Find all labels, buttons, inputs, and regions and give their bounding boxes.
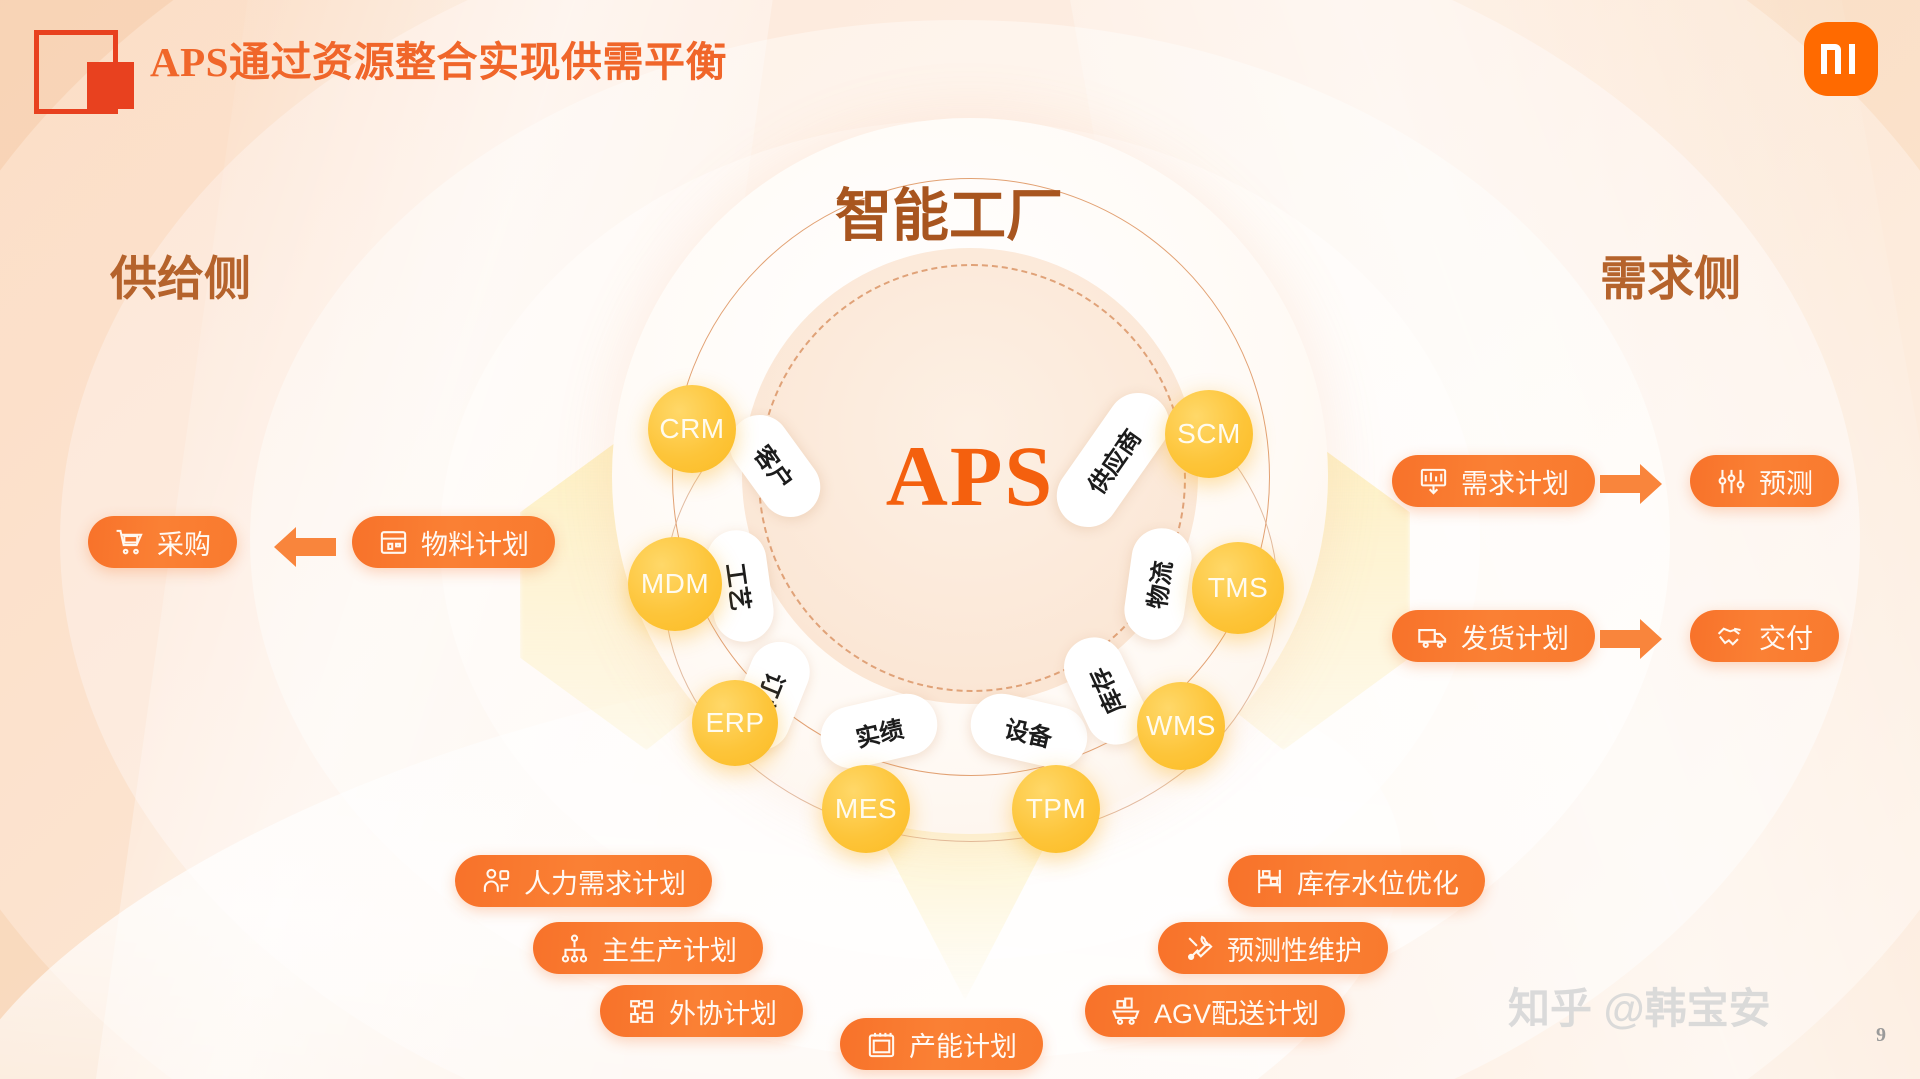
chip-purchasing[interactable]: 采购 xyxy=(88,516,237,568)
outsourcing-icon xyxy=(626,996,657,1027)
agv-cart-icon xyxy=(1111,996,1142,1027)
square-solid-icon xyxy=(87,62,134,109)
chip-label: 发货计划 xyxy=(1461,617,1569,656)
module-label: CRM xyxy=(659,413,724,445)
shopping-cart-icon xyxy=(114,527,145,558)
module-bubble-crm[interactable]: CRM xyxy=(648,385,736,473)
module-bubble-mdm[interactable]: MDM xyxy=(628,537,722,631)
chip-capacity-plan[interactable]: 产能计划 xyxy=(840,1018,1043,1070)
inner-pill-label: 工艺 xyxy=(719,560,760,612)
module-label: ERP xyxy=(705,707,764,739)
chip-label: 人力需求计划 xyxy=(524,862,686,901)
supply-side-label: 供给侧 xyxy=(110,240,251,309)
module-bubble-tms[interactable]: TMS xyxy=(1192,542,1284,634)
chip-label: 外协计划 xyxy=(669,992,777,1031)
chip-material-plan[interactable]: 物料计划 xyxy=(352,516,555,568)
factory-title: 智能工厂 xyxy=(835,170,1063,252)
module-label: TPM xyxy=(1026,793,1087,825)
inner-pill-label: 物流 xyxy=(1137,558,1178,610)
module-label: WMS xyxy=(1146,710,1216,742)
module-bubble-mes[interactable]: MES xyxy=(822,765,910,853)
handshake-icon xyxy=(1716,621,1747,652)
chip-master-production-plan[interactable]: 主生产计划 xyxy=(533,922,763,974)
chip-label: 产能计划 xyxy=(909,1025,1017,1064)
arrow-right-1 xyxy=(1600,462,1664,506)
module-label: SCM xyxy=(1177,418,1241,450)
chip-label: 预测 xyxy=(1759,462,1813,501)
people-plan-icon xyxy=(481,866,512,897)
chip-outsourcing-plan[interactable]: 外协计划 xyxy=(600,985,803,1037)
chip-label: 预测性维护 xyxy=(1227,929,1362,968)
chip-forecast[interactable]: 预测 xyxy=(1690,455,1839,507)
hierarchy-icon xyxy=(559,933,590,964)
chip-inventory-optimization[interactable]: 库存水位优化 xyxy=(1228,855,1485,907)
watermark: 知乎 @韩宝安 xyxy=(1508,975,1771,1036)
chip-demand-plan[interactable]: 需求计划 xyxy=(1392,455,1595,507)
chip-label: 主生产计划 xyxy=(602,929,737,968)
module-label: TMS xyxy=(1208,572,1269,604)
page-title: APS通过资源整合实现供需平衡 xyxy=(150,28,727,88)
inner-pill-label: 客户 xyxy=(747,436,804,495)
truck-icon xyxy=(1418,621,1449,652)
page-number: 9 xyxy=(1876,1024,1886,1047)
wrench-screwdriver-icon xyxy=(1184,933,1215,964)
warehouse-rack-icon xyxy=(1254,866,1285,897)
module-label: MDM xyxy=(641,568,709,600)
demand-side-label: 需求侧 xyxy=(1600,240,1741,309)
module-bubble-scm[interactable]: SCM xyxy=(1165,390,1253,478)
chip-shipping-plan[interactable]: 发货计划 xyxy=(1392,610,1595,662)
inner-pill-label: 实绩 xyxy=(852,709,907,754)
module-bubble-wms[interactable]: WMS xyxy=(1137,682,1225,770)
module-bubble-tpm[interactable]: TPM xyxy=(1012,765,1100,853)
chip-delivery[interactable]: 交付 xyxy=(1690,610,1839,662)
arrow-right-2 xyxy=(1600,617,1664,661)
module-bubble-erp[interactable]: ERP xyxy=(692,680,778,766)
slide-canvas: APS通过资源整合实现供需平衡 供给侧 需求侧 APS 智能工厂 客户 工艺 订… xyxy=(0,0,1920,1079)
mi-logo xyxy=(1804,22,1878,96)
chip-label: 交付 xyxy=(1759,617,1813,656)
slide-header: APS通过资源整合实现供需平衡 xyxy=(0,0,1920,115)
calendar-grid-icon xyxy=(378,527,409,558)
arrow-left xyxy=(272,525,336,569)
chip-predictive-maintenance[interactable]: 预测性维护 xyxy=(1158,922,1388,974)
sliders-icon xyxy=(1716,466,1747,497)
chip-label: 物料计划 xyxy=(421,523,529,562)
chip-label: 采购 xyxy=(157,523,211,562)
chip-manpower-plan[interactable]: 人力需求计划 xyxy=(455,855,712,907)
chip-label: 需求计划 xyxy=(1461,462,1569,501)
module-label: MES xyxy=(835,793,897,825)
chip-label: AGV配送计划 xyxy=(1154,992,1319,1031)
calendar-15-icon xyxy=(866,1029,897,1060)
chip-label: 库存水位优化 xyxy=(1297,862,1459,901)
inner-pill-label: 设备 xyxy=(1002,709,1057,754)
chip-agv-delivery-plan[interactable]: AGV配送计划 xyxy=(1085,985,1345,1037)
demand-chart-icon xyxy=(1418,466,1449,497)
inner-pill-label: 库存 xyxy=(1079,662,1131,720)
